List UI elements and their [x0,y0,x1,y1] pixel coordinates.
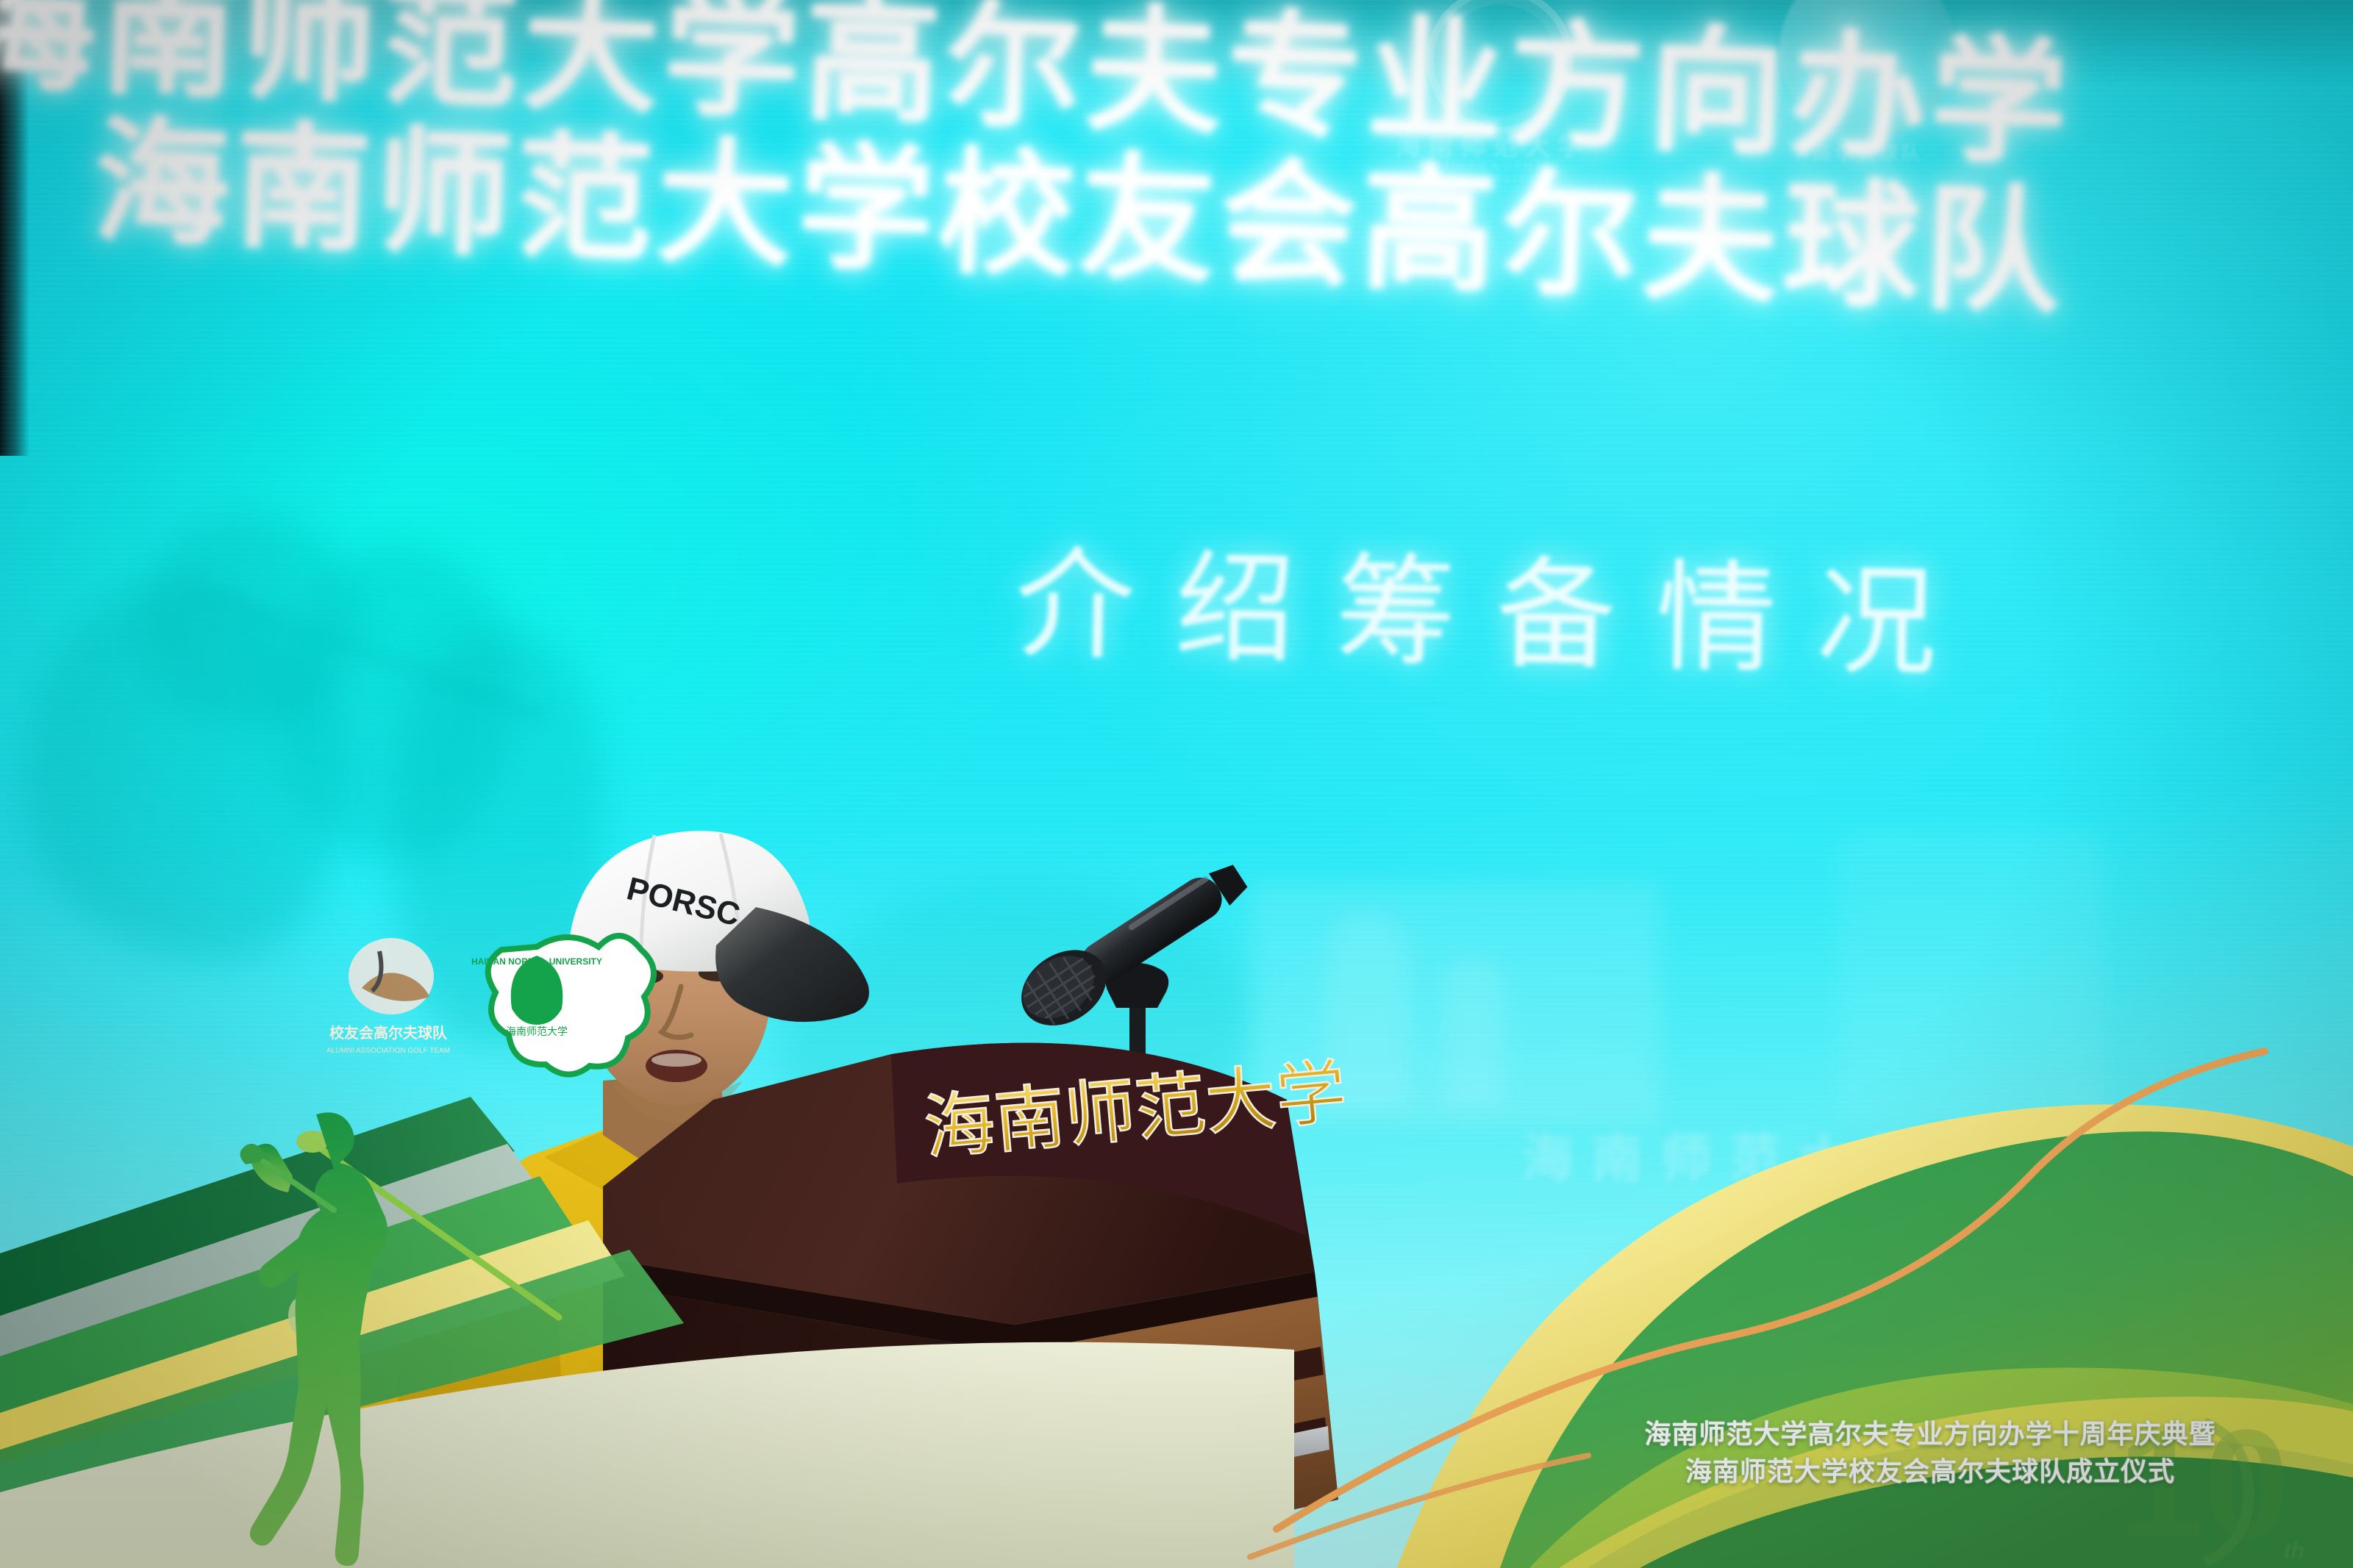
caption-line-2: 海南师范大学校友会高尔夫球队成立仪式 [1588,1453,2272,1490]
photo-scene: 海南师范大学 HAINAN NORMAL UNIVERSITY 高尔夫球队 海南… [0,0,2353,1568]
golfer-svg [206,1110,449,1566]
caption-line-1: 海南师范大学高尔夫专业方向办学十周年庆典暨 [1588,1415,2272,1453]
golfer-silhouette-icon [206,1110,449,1566]
anniversary-suffix: th [2284,1539,2304,1564]
event-caption: 海南师范大学高尔夫专业方向办学十周年庆典暨 海南师范大学校友会高尔夫球队成立仪式 [1588,1415,2272,1490]
